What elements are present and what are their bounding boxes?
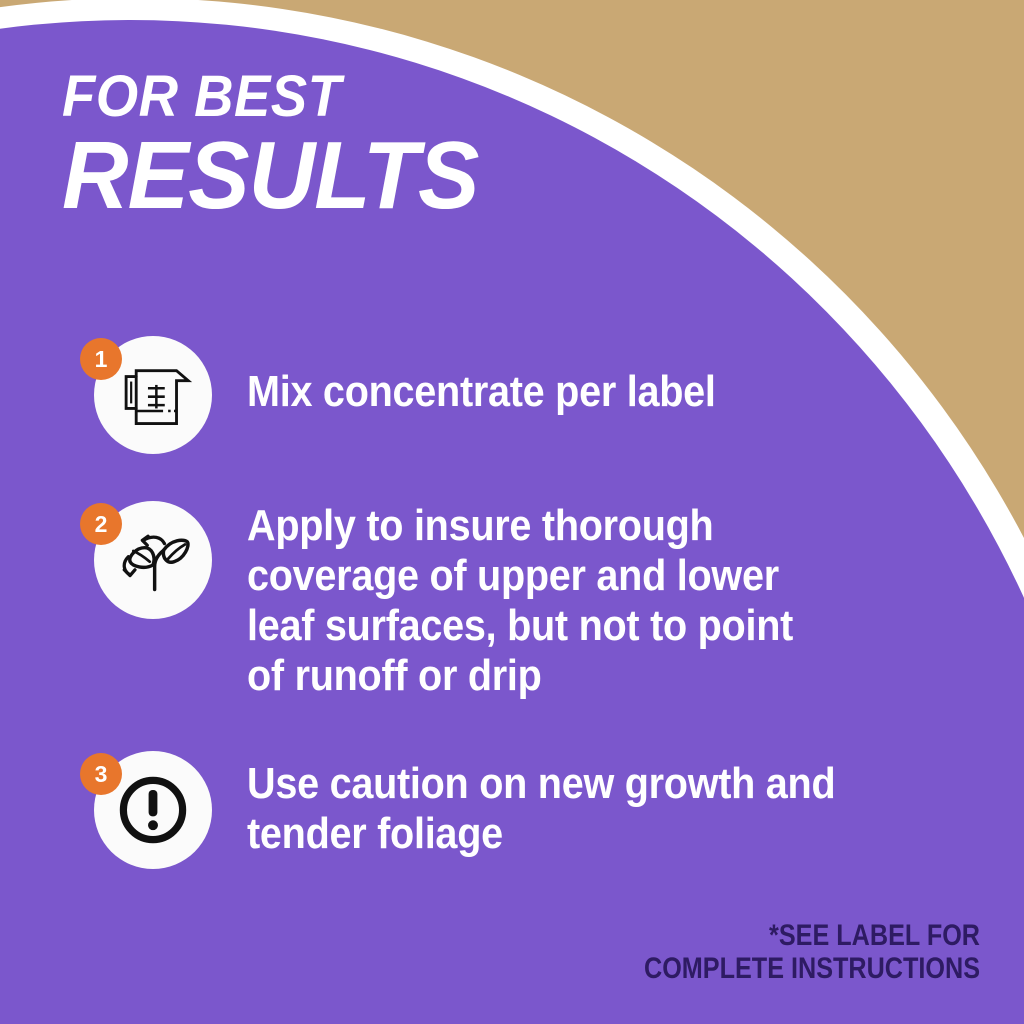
step-1-number-badge: 1 [80, 338, 122, 380]
leaf-spray-coverage-icon [112, 519, 194, 601]
measuring-cup-icon [111, 353, 195, 437]
step-3-number-badge: 3 [80, 753, 122, 795]
step-2-text: Apply to insure thorough coverage of upp… [247, 501, 793, 702]
step-3-text: Use caution on new growth and tender fol… [247, 759, 835, 859]
step-item-3: 3 Use caution on new growth and tender f… [94, 751, 901, 869]
infographic-panel: FOR BEST RESULTS [0, 0, 1024, 1024]
step-2-icon-wrap: 2 [94, 501, 212, 619]
step-2-number-badge: 2 [80, 503, 122, 545]
step-3-icon-wrap: 3 [94, 751, 212, 869]
footer-disclaimer: *SEE LABEL FOR COMPLETE INSTRUCTIONS [644, 919, 980, 986]
title-line-1: FOR BEST [62, 68, 470, 126]
step-1-icon-wrap: 1 [94, 336, 212, 454]
exclamation-caution-icon [113, 770, 193, 850]
page-title: FOR BEST RESULTS [62, 68, 496, 221]
step-item-2: 2 Apply to insure thorough coverage of u… [94, 501, 854, 702]
step-1-text: Mix concentrate per label [247, 367, 716, 417]
step-item-1: 1 Mix concentrate per label [94, 336, 768, 454]
title-line-2: RESULTS [62, 130, 479, 221]
